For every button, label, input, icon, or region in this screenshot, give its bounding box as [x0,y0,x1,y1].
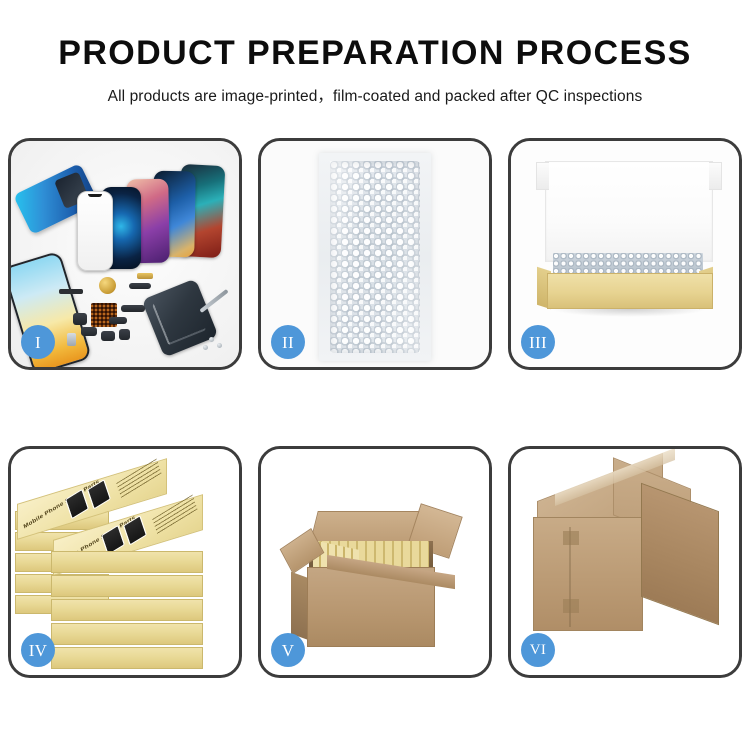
process-step-panel-5[interactable]: V [258,446,492,678]
step-badge-5: V [271,633,305,667]
header: PRODUCT PREPARATION PROCESS All products… [0,0,750,106]
process-step-panel-6[interactable]: VI [508,446,742,678]
retail-box-edge [51,575,203,597]
screw-part-icon [209,337,214,342]
retail-box-edge [51,623,203,645]
page-subtitle: All products are image-printed，film-coat… [0,72,750,106]
retail-box-edge [51,599,203,621]
mailer-box-shadow [551,309,707,317]
step-badge-6: VI [521,633,555,667]
retail-box-edge [51,647,203,669]
step-badge-2: II [271,325,305,359]
step-badge-3: III [521,325,555,359]
vibrator-part-icon [101,331,115,341]
metal-shield-part-icon [67,333,76,346]
retail-box-spec-lines [152,495,197,535]
mailer-box-lid-icon [545,161,713,262]
flex-strip-part-icon [59,289,83,294]
process-step-panel-3[interactable]: III [508,138,742,370]
step-badge-1: I [21,325,55,359]
sealed-carton-tab-icon [563,599,579,613]
screw-part-icon [203,345,208,350]
process-step-grid: I II III [8,138,742,678]
process-step-panel-1[interactable]: I [8,138,242,370]
small-connector-part-icon [81,327,97,336]
retail-box-edge [51,551,203,573]
screw-part-icon [217,343,222,348]
bubble-wrap-icon [330,161,420,353]
flex-cable-part-icon [129,283,151,289]
antenna-flex-part-icon [109,317,127,324]
camera-flex-part-icon [121,305,145,312]
sealed-carton-tab-icon [563,531,579,545]
speaker-coin-part-icon [99,277,116,294]
process-step-panel-2[interactable]: II [258,138,492,370]
sealed-carton-front-panel-icon [533,517,643,631]
mailer-box-front-icon [547,273,713,309]
phone-white-glass-icon [77,191,113,271]
taptic-engine-part-icon [119,329,130,340]
bracket-part-icon [73,313,87,325]
process-step-panel-4[interactable]: Mobile Phone Spare Parts Mobile Phone Sp… [8,446,242,678]
product-preparation-infographic: PRODUCT PREPARATION PROCESS All products… [0,0,750,750]
step-badge-4: IV [21,633,55,667]
phone-notch-icon [88,194,102,197]
retail-box-window-icon [65,489,89,519]
page-title: PRODUCT PREPARATION PROCESS [0,0,750,72]
gold-connector-part-icon [137,273,153,279]
